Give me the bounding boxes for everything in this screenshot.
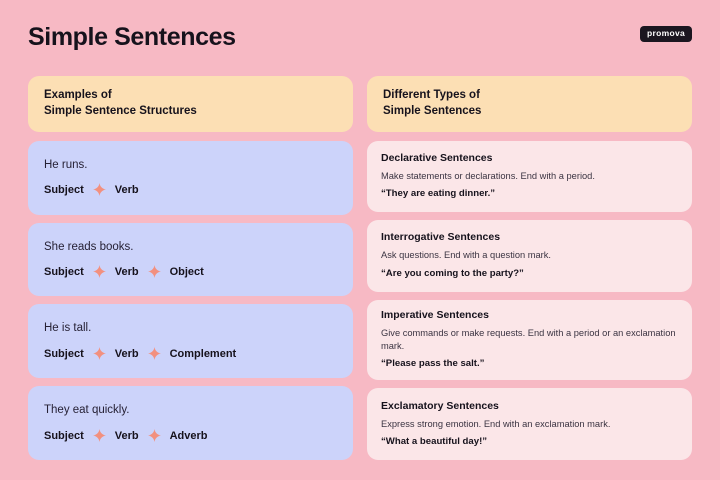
left-column: Examples of Simple Sentence Structures H… [28, 76, 353, 460]
sentence-type-card: Declarative Sentences Make statements or… [367, 141, 692, 213]
plus-icon [93, 183, 106, 196]
formula-part: Subject [44, 266, 84, 278]
left-column-header: Examples of Simple Sentence Structures [28, 76, 353, 132]
sentence-type-description: Give commands or make requests. End with… [381, 327, 678, 353]
sentence-type-title: Interrogative Sentences [381, 231, 678, 244]
structure-formula: Subject Verb Adverb [44, 429, 337, 442]
sentence-type-description: Make statements or declarations. End wit… [381, 170, 678, 183]
structure-card: He is tall. Subject Verb Complement [28, 304, 353, 378]
plus-icon [93, 347, 106, 360]
right-card-list: Declarative Sentences Make statements or… [367, 141, 692, 460]
right-column: Different Types of Simple Sentences Decl… [367, 76, 692, 460]
plus-icon [148, 347, 161, 360]
formula-part: Verb [115, 348, 139, 360]
formula-part: Verb [115, 184, 139, 196]
formula-part: Object [170, 266, 204, 278]
structure-example: They eat quickly. [44, 404, 337, 418]
right-header-line-1: Different Types of [383, 87, 676, 103]
formula-part: Complement [170, 348, 237, 360]
plus-icon [93, 429, 106, 442]
plus-icon [93, 265, 106, 278]
left-header-line-2: Simple Sentence Structures [44, 103, 337, 119]
right-header-line-2: Simple Sentences [383, 103, 676, 119]
sentence-type-example: “They are eating dinner.” [381, 188, 678, 201]
plus-icon [148, 265, 161, 278]
sentence-type-description: Express strong emotion. End with an excl… [381, 418, 678, 431]
plus-icon [148, 429, 161, 442]
top-bar: Simple Sentences promova [28, 22, 692, 68]
sentence-type-example: “Please pass the salt.” [381, 358, 678, 371]
sentence-type-title: Exclamatory Sentences [381, 400, 678, 413]
structure-formula: Subject Verb Complement [44, 347, 337, 360]
formula-part: Verb [115, 430, 139, 442]
sentence-type-card: Exclamatory Sentences Express strong emo… [367, 388, 692, 460]
sentence-type-title: Imperative Sentences [381, 309, 678, 322]
infographic-poster: Simple Sentences promova Examples of Sim… [0, 0, 720, 480]
structure-formula: Subject Verb Object [44, 265, 337, 278]
left-header-line-1: Examples of [44, 87, 337, 103]
structure-card: They eat quickly. Subject Verb Adverb [28, 386, 353, 460]
structure-card: He runs. Subject Verb [28, 141, 353, 215]
formula-part: Subject [44, 184, 84, 196]
sentence-type-example: “Are you coming to the party?” [381, 268, 678, 281]
structure-card: She reads books. Subject Verb Object [28, 223, 353, 297]
right-column-header: Different Types of Simple Sentences [367, 76, 692, 132]
structure-example: He runs. [44, 159, 337, 173]
structure-formula: Subject Verb [44, 183, 337, 196]
sentence-type-example: “What a beautiful day!” [381, 436, 678, 449]
formula-part: Adverb [170, 430, 208, 442]
sentence-type-title: Declarative Sentences [381, 152, 678, 165]
sentence-type-description: Ask questions. End with a question mark. [381, 249, 678, 262]
formula-part: Subject [44, 348, 84, 360]
structure-example: He is tall. [44, 322, 337, 336]
left-card-list: He runs. Subject Verb She reads books. S… [28, 141, 353, 460]
promova-logo: promova [640, 26, 692, 42]
formula-part: Subject [44, 430, 84, 442]
structure-example: She reads books. [44, 241, 337, 255]
page-title: Simple Sentences [28, 22, 236, 52]
formula-part: Verb [115, 266, 139, 278]
sentence-type-card: Interrogative Sentences Ask questions. E… [367, 220, 692, 292]
sentence-type-card: Imperative Sentences Give commands or ma… [367, 300, 692, 381]
columns-container: Examples of Simple Sentence Structures H… [28, 76, 692, 460]
